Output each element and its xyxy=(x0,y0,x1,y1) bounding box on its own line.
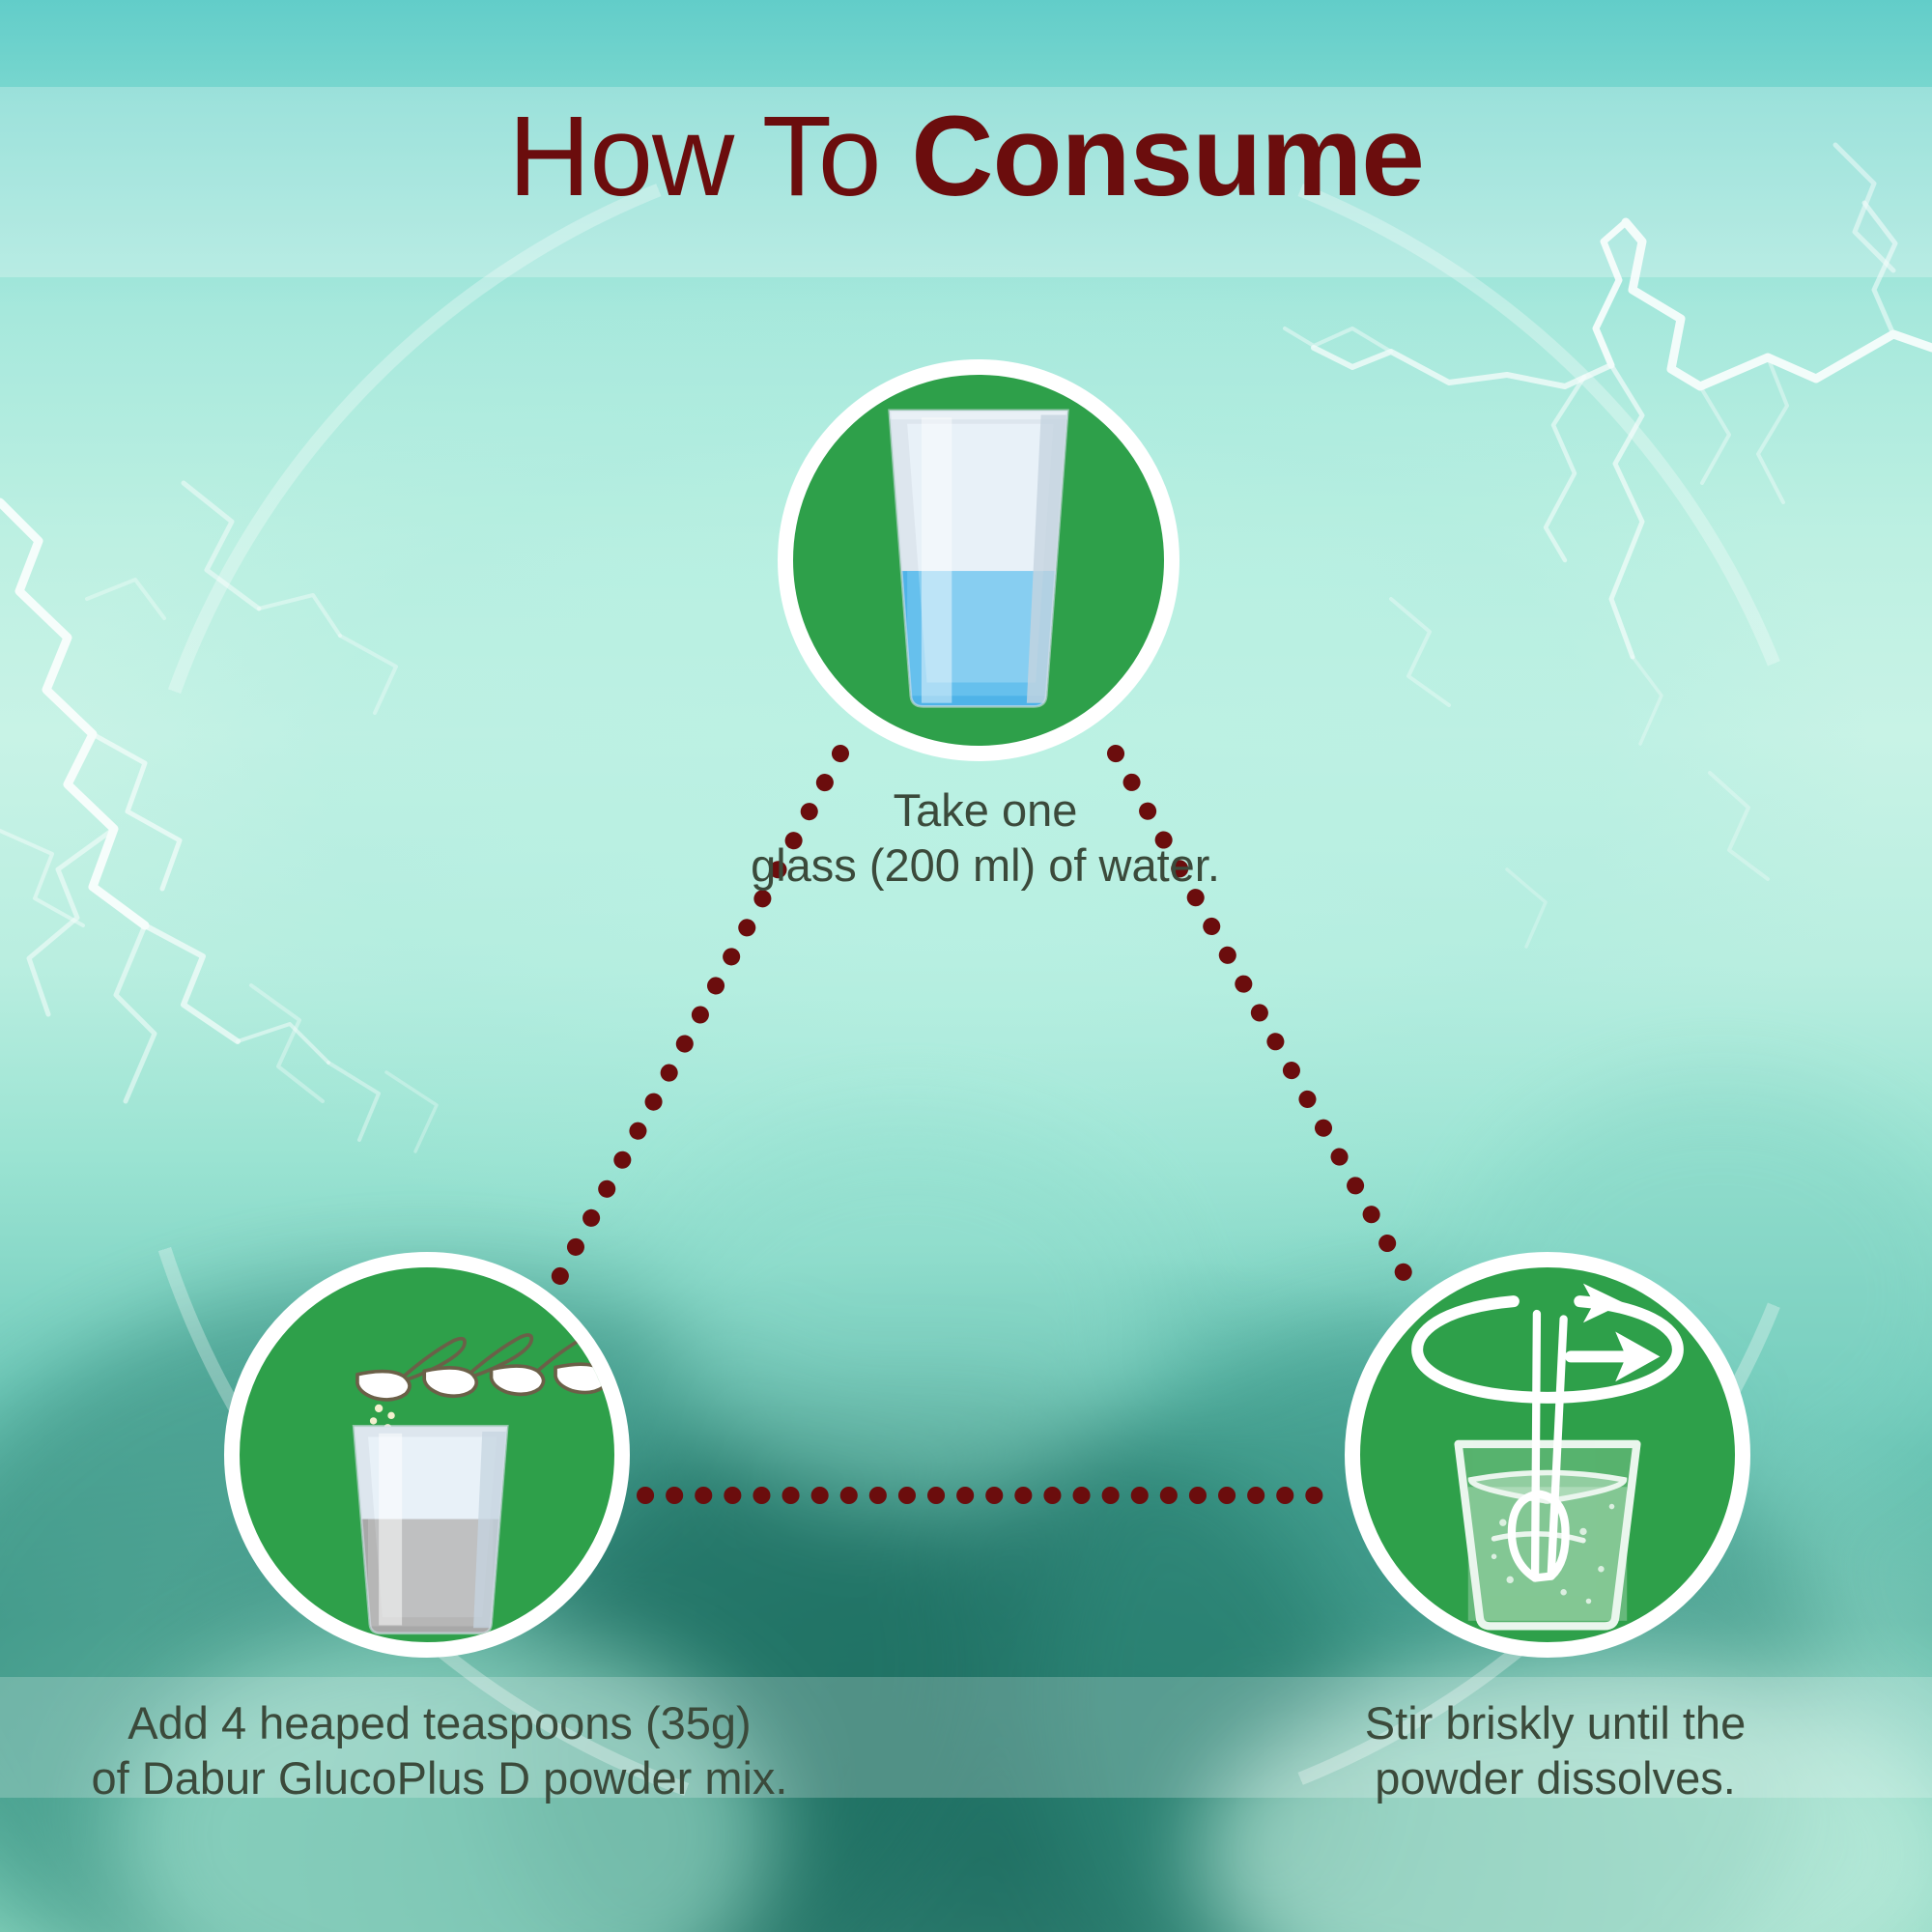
step-stir-circle[interactable] xyxy=(1345,1252,1750,1658)
stir-spoon-icon xyxy=(1360,1267,1735,1642)
step-powder-circle[interactable] xyxy=(224,1252,630,1658)
step-stir-caption: Stir briskly until the powder dissolves. xyxy=(1285,1695,1826,1806)
water-glass-icon xyxy=(793,375,1164,746)
title-part-bold: Consume xyxy=(911,93,1424,220)
step-water-circle[interactable] xyxy=(778,359,1179,761)
title-part-light: How To xyxy=(508,93,911,220)
step-powder-caption: Add 4 heaped teaspoons (35g) of Dabur Gl… xyxy=(58,1695,821,1806)
teaspoons-powder-icon xyxy=(240,1267,614,1642)
step-water-caption: Take one glass (200 ml) of water. xyxy=(599,782,1372,894)
page-title: How To Consume xyxy=(0,89,1932,226)
infographic-canvas: How To Consume xyxy=(0,0,1932,1932)
